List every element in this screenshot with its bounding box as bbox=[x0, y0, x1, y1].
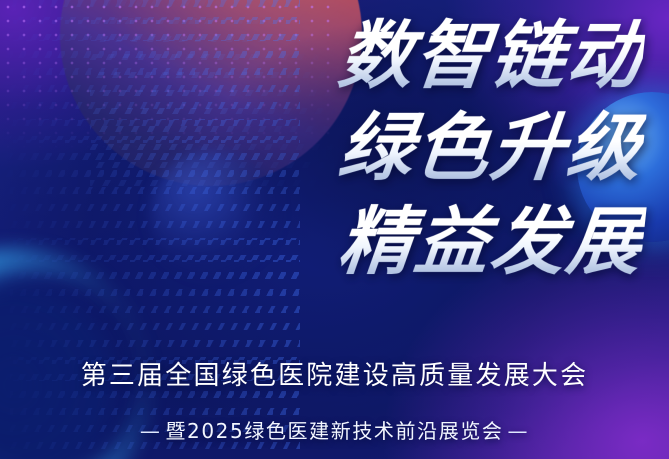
em-dash-left: — bbox=[136, 419, 166, 443]
conference-poster: 数智链动 绿色升级 精益发展 第三届全国绿色医院建设高质量发展大会 —暨2025… bbox=[0, 0, 669, 459]
exhibition-line: —暨2025绿色医建新技术前沿展览会— bbox=[0, 415, 669, 444]
poster-headline: 数智链动 绿色升级 精益发展 bbox=[0, 8, 643, 290]
headline-line-1: 数智链动 bbox=[0, 8, 648, 104]
headline-line-3: 精益发展 bbox=[0, 194, 648, 290]
conference-title: 第三届全国绿色医院建设高质量发展大会 bbox=[0, 355, 669, 392]
exhibition-line-text: 暨2025绿色医建新技术前沿展览会 bbox=[165, 419, 503, 443]
em-dash-right: — bbox=[504, 419, 534, 443]
headline-line-2: 绿色升级 bbox=[0, 100, 648, 196]
